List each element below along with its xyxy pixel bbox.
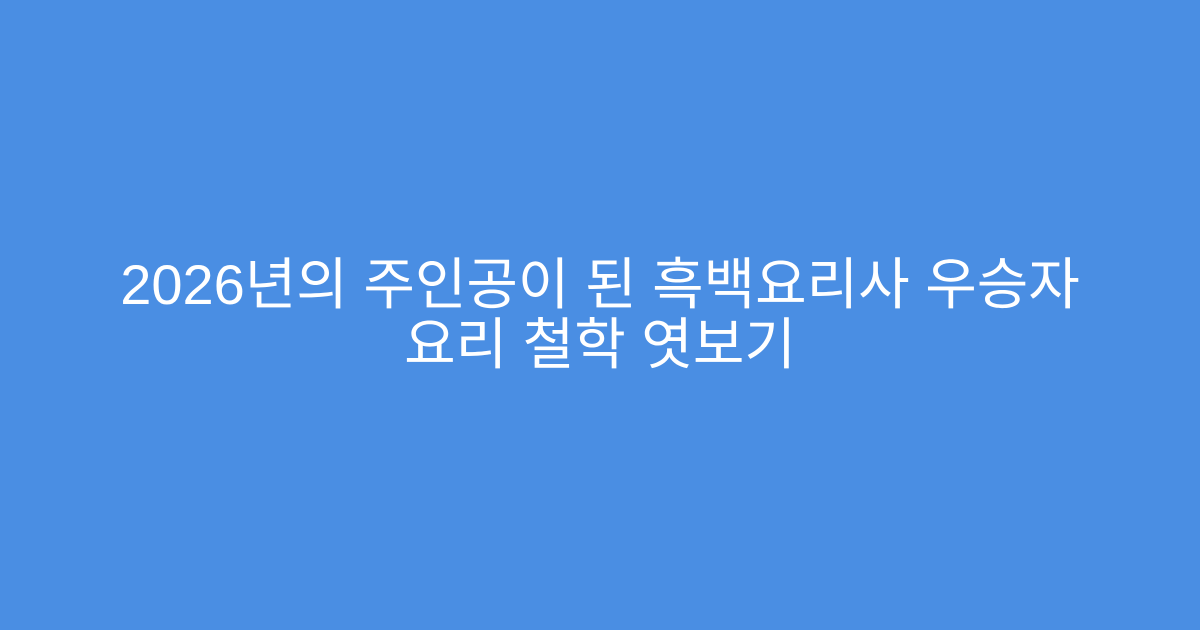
og-card-canvas: 2026년의 주인공이 된 흑백요리사 우승자 요리 철학 엿보기 (0, 0, 1200, 630)
page-title: 2026년의 주인공이 된 흑백요리사 우승자 요리 철학 엿보기 (95, 255, 1105, 375)
title-block: 2026년의 주인공이 된 흑백요리사 우승자 요리 철학 엿보기 (95, 255, 1105, 375)
